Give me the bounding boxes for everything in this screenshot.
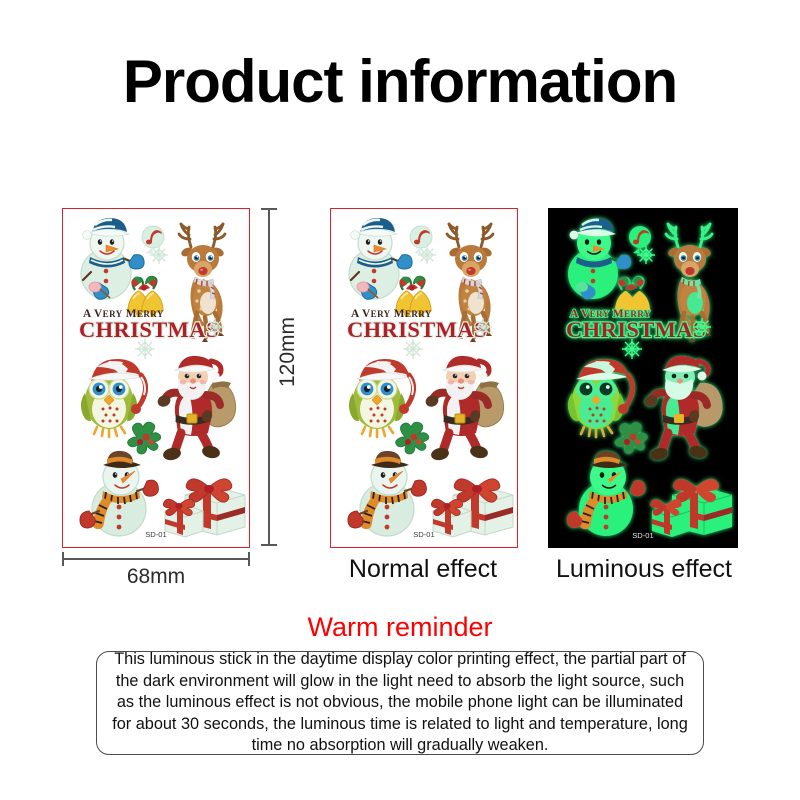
- dimension-cap-top: [261, 208, 277, 210]
- sticker-sheet-normal: SD-01: [330, 208, 518, 548]
- sticker-sheet-dimensioned: A VERY MERRY CHRISTMAS: [62, 208, 250, 548]
- dimension-cap-left: [62, 552, 64, 566]
- dimension-cap-bottom: [261, 544, 277, 546]
- caption-normal-effect: Normal effect: [318, 555, 528, 584]
- dimension-line-vertical: [268, 208, 270, 546]
- caption-luminous-effect: Luminous effect: [538, 555, 750, 584]
- height-dimension-label: 120mm: [276, 316, 300, 388]
- sticker-sheet-luminous: A VERY MERRY CHRISTMAS: [548, 208, 738, 548]
- svg-text:CHRISTMAS: CHRISTMAS: [566, 317, 706, 342]
- width-dimension-label: 68mm: [62, 565, 250, 589]
- dimension-cap-right: [248, 552, 250, 566]
- warm-reminder-text: This luminous stick in the daytime displ…: [97, 649, 703, 757]
- warm-reminder-title: Warm reminder: [0, 612, 800, 643]
- height-dimension: 120mm: [258, 208, 298, 546]
- page-title: Product information: [0, 52, 800, 112]
- sheet-code-2: SD-01: [413, 530, 435, 539]
- product-information-page: Product information: [0, 0, 800, 800]
- sheet-code-3: SD-01: [632, 531, 654, 540]
- warm-reminder-box: This luminous stick in the daytime displ…: [96, 651, 704, 755]
- width-dimension: 68mm: [62, 552, 250, 596]
- sheet-code-1: SD-01: [145, 530, 167, 539]
- dimension-line-horizontal: [62, 558, 250, 560]
